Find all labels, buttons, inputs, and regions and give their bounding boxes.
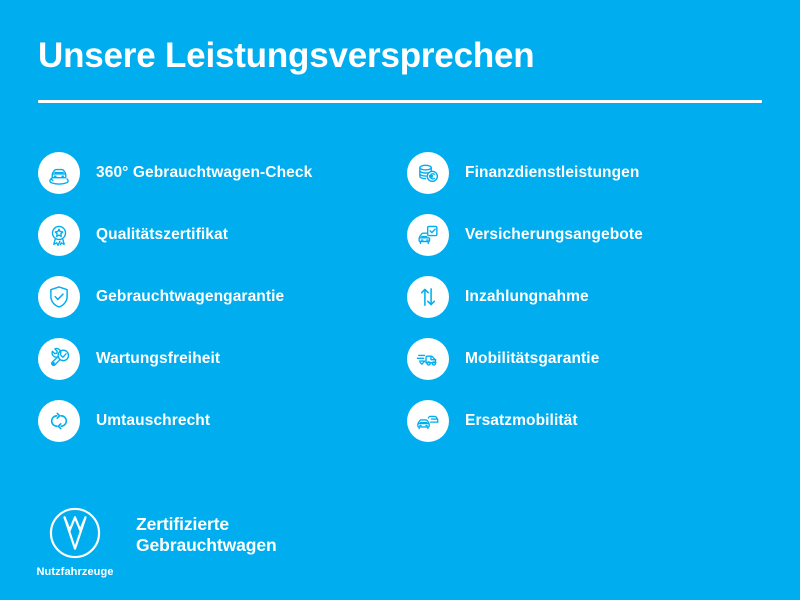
benefit-item-360-check[interactable]: 360° Gebrauchtwagen-Check — [38, 152, 401, 194]
benefit-label: Ersatzmobilität — [465, 411, 578, 431]
up-down-arrows-icon — [407, 276, 449, 318]
benefit-label: Qualitätszertifikat — [96, 225, 228, 245]
title-divider — [38, 100, 762, 103]
benefit-item-gebrauchtwagengarantie[interactable]: Gebrauchtwagengarantie — [38, 276, 401, 318]
benefit-label: Mobilitätsgarantie — [465, 349, 599, 369]
award-rosette-icon — [38, 214, 80, 256]
brand-claim-line-2: Gebrauchtwagen — [136, 535, 277, 556]
brand-claim-line-1: Zertifizierte — [136, 514, 277, 535]
brand-mark: Nutzfahrzeuge — [38, 506, 112, 578]
benefit-item-ersatzmobilitaet[interactable]: Ersatzmobilität — [407, 400, 770, 442]
benefit-label: 360° Gebrauchtwagen-Check — [96, 163, 312, 183]
benefit-item-versicherungsangebote[interactable]: Versicherungsangebote — [407, 214, 770, 256]
benefit-item-inzahlungnahme[interactable]: Inzahlungnahme — [407, 276, 770, 318]
wrench-check-icon — [38, 338, 80, 380]
brand-claim: Zertifizierte Gebrauchtwagen — [136, 506, 277, 556]
slide-header: Unsere Leistungsversprechen — [38, 34, 762, 103]
shield-check-icon — [38, 276, 80, 318]
car-360-check-icon — [38, 152, 80, 194]
benefit-item-umtauschrecht[interactable]: Umtauschrecht — [38, 400, 401, 442]
benefit-item-finanzdienstleistungen[interactable]: Finanzdienstleistungen — [407, 152, 770, 194]
benefit-label: Finanzdienstleistungen — [465, 163, 639, 183]
page-title: Unsere Leistungsversprechen — [38, 34, 762, 78]
benefits-grid: 360° Gebrauchtwagen-Check Qualitätszerti… — [38, 152, 770, 442]
benefits-column-right: Finanzdienstleistungen Versicherungsange… — [401, 152, 770, 442]
exchange-arrows-icon — [38, 400, 80, 442]
two-cars-icon — [407, 400, 449, 442]
benefit-label: Wartungsfreiheit — [96, 349, 220, 369]
benefit-label: Inzahlungnahme — [465, 287, 589, 307]
van-motion-icon — [407, 338, 449, 380]
benefit-item-wartungsfreiheit[interactable]: Wartungsfreiheit — [38, 338, 401, 380]
benefit-item-mobilitaetsgarantie[interactable]: Mobilitätsgarantie — [407, 338, 770, 380]
benefits-column-left: 360° Gebrauchtwagen-Check Qualitätszerti… — [38, 152, 401, 442]
volkswagen-logo — [48, 506, 102, 560]
car-document-check-icon — [407, 214, 449, 256]
brand-subline: Nutzfahrzeuge — [36, 566, 113, 578]
benefit-label: Umtauschrecht — [96, 411, 210, 431]
slide-root: Unsere Leistungsversprechen 360° Gebrauc — [0, 0, 800, 600]
benefit-label: Versicherungsangebote — [465, 225, 643, 245]
coins-euro-icon — [407, 152, 449, 194]
brand-lockup: Nutzfahrzeuge Zertifizierte Gebrauchtwag… — [38, 506, 277, 578]
benefit-label: Gebrauchtwagengarantie — [96, 287, 284, 307]
benefit-item-qualitaetszertifikat[interactable]: Qualitätszertifikat — [38, 214, 401, 256]
